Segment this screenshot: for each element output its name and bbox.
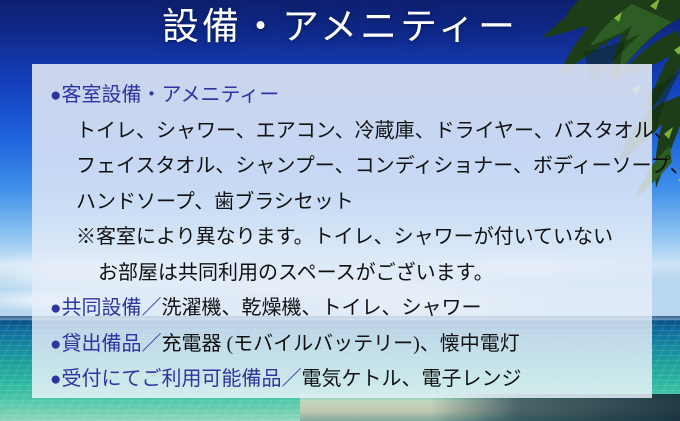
amenities-banner: 設備・アメニティー ●客室設備・アメニティー トイレ、シャワー、エアコン、冷蔵庫… (0, 0, 680, 421)
bullet-icon: ● (50, 334, 61, 355)
amenity-line: フェイスタオル、シャンプー、コンディショナー、ボディーソープ、 (50, 149, 636, 185)
bullet-icon: ● (50, 85, 61, 106)
section-rental-equipment: ●貸出備品／充電器 (モバイルバッテリー)、懐中電灯 (50, 327, 636, 363)
section-separator: ／ (141, 333, 161, 355)
bullet-icon: ● (50, 369, 61, 390)
title-bar: 設備・アメニティー (0, 6, 680, 50)
section-room-amenities: ●客室設備・アメニティー トイレ、シャワー、エアコン、冷蔵庫、ドライヤー、バスタ… (50, 78, 636, 291)
section-heading-room-amenities: ●客室設備・アメニティー (50, 78, 636, 114)
section-value: 電気ケトル、電子レンジ (301, 368, 521, 390)
section-value: 洗濯機、乾燥機、トイレ、シャワー (161, 297, 481, 319)
bullet-icon: ● (50, 298, 61, 319)
amenity-line: トイレ、シャワー、エアコン、冷蔵庫、ドライヤー、バスタオル、 (50, 114, 636, 150)
section-shared-facilities: ●共同設備／洗濯機、乾燥機、トイレ、シャワー (50, 291, 636, 327)
section-value: 充電器 (モバイルバッテリー)、懐中電灯 (161, 333, 519, 355)
section-label: 共同設備 (61, 297, 141, 319)
amenity-note-line: お部屋は共同利用のスペースがございます。 (50, 256, 636, 292)
section-label: 受付にてご利用可能備品 (61, 368, 281, 390)
amenities-panel: ●客室設備・アメニティー トイレ、シャワー、エアコン、冷蔵庫、ドライヤー、バスタ… (32, 64, 652, 398)
section-label: 貸出備品 (61, 333, 141, 355)
section-heading-label: 客室設備・アメニティー (61, 84, 279, 106)
amenity-line: ハンドソープ、歯ブラシセット (50, 185, 636, 221)
section-front-desk-equipment: ●受付にてご利用可能備品／電気ケトル、電子レンジ (50, 362, 636, 398)
section-separator: ／ (281, 368, 301, 390)
page-title: 設備・アメニティー (162, 6, 518, 50)
section-separator: ／ (141, 297, 161, 319)
amenity-note-line: ※客室により異なります。トイレ、シャワーが付いていない (50, 220, 636, 256)
